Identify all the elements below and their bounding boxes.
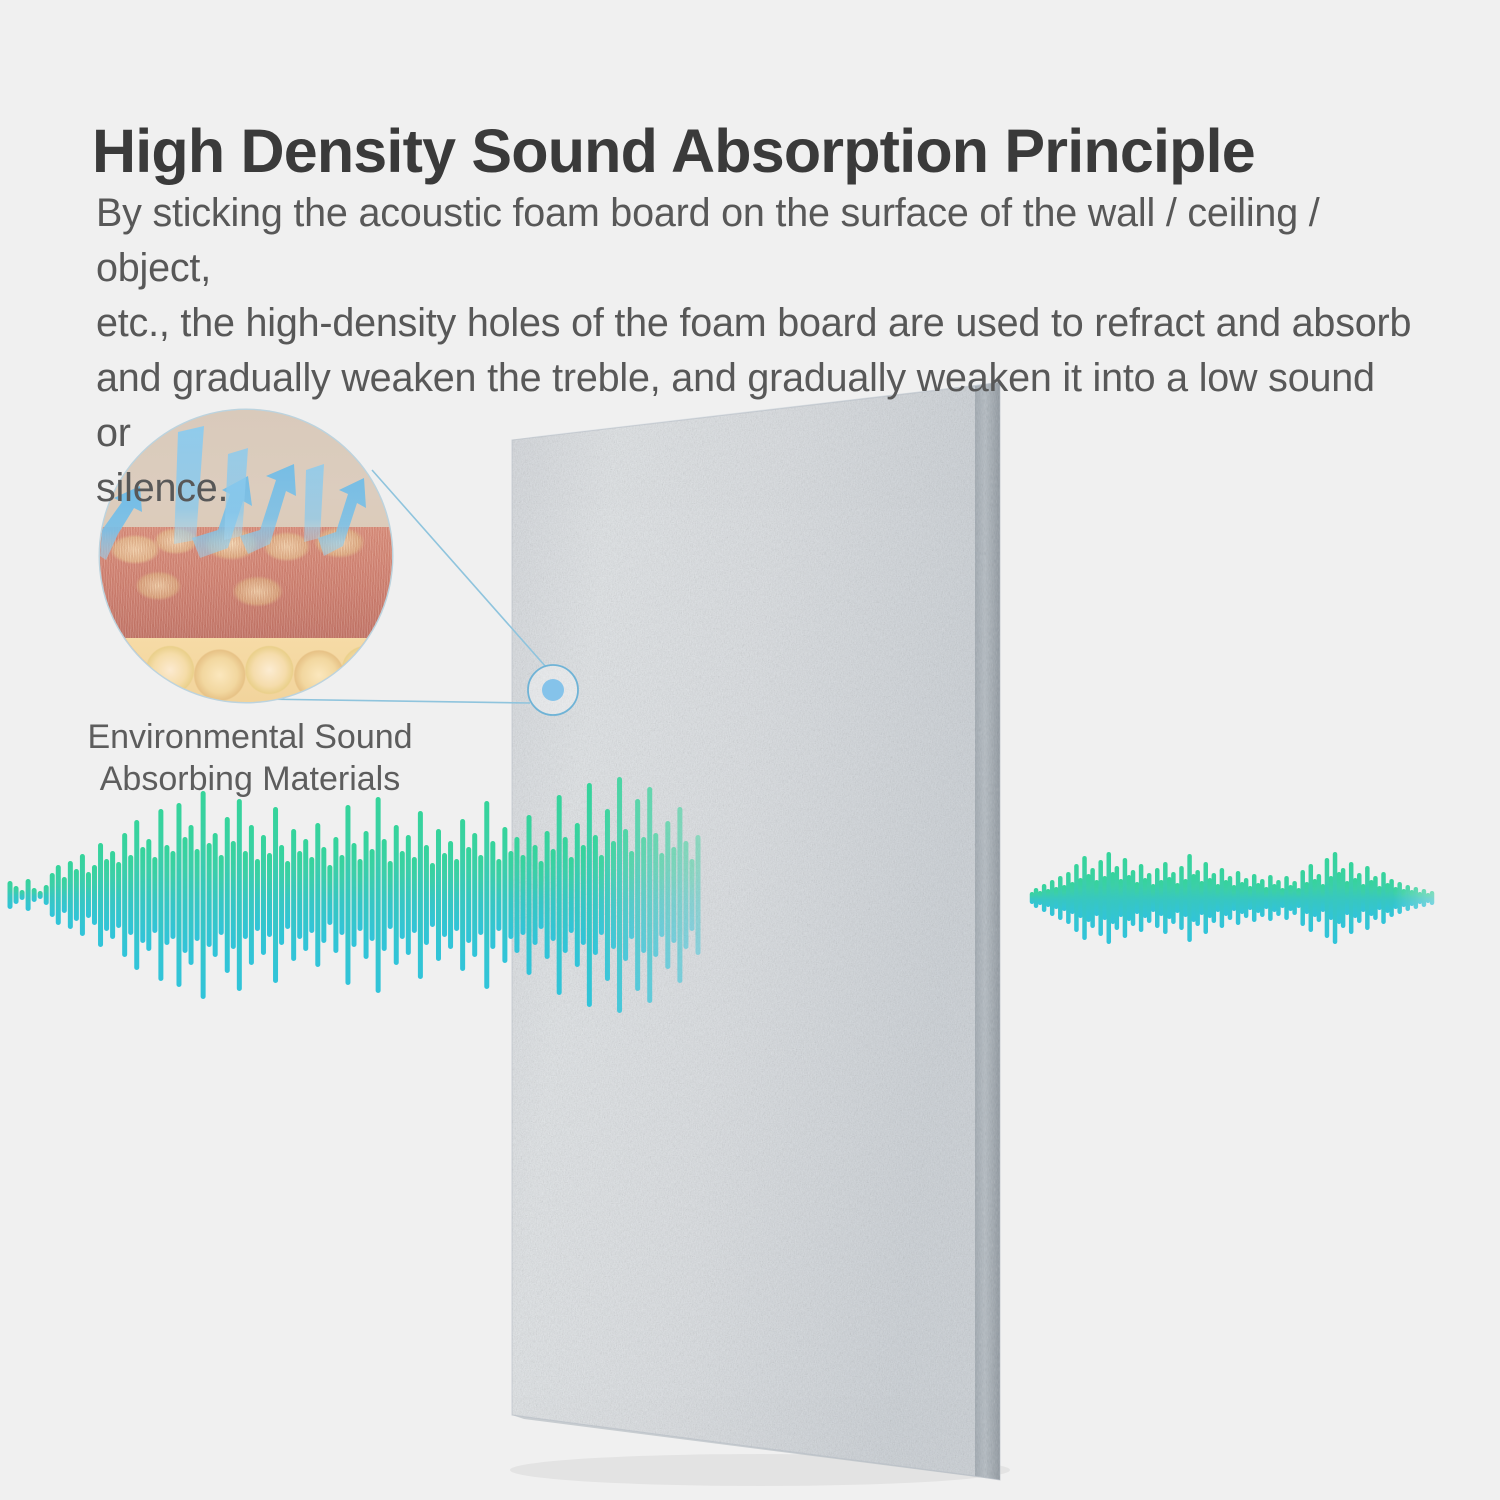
description-line: silence. — [96, 461, 1414, 516]
description-paragraph: By sticking the acoustic foam board on t… — [96, 186, 1414, 516]
panel-side-texture — [970, 375, 1010, 1490]
description-line: By sticking the acoustic foam board on t… — [96, 186, 1414, 296]
infographic-canvas: Environmental Sound Absorbing Materials … — [0, 0, 1500, 1500]
panel-shadow — [510, 1454, 1010, 1486]
panel-side-edge — [975, 382, 1000, 1480]
inset-caption-line-1: Environmental Sound — [60, 716, 440, 758]
panel-face — [512, 386, 975, 1476]
panel-face-texture — [500, 370, 1000, 1490]
inset-caption: Environmental Sound Absorbing Materials — [60, 716, 440, 800]
page-title: High Density Sound Absorption Principle — [92, 115, 1422, 187]
inset-caption-line-2: Absorbing Materials — [60, 758, 440, 800]
description-line: and gradually weaken the treble, and gra… — [96, 351, 1414, 461]
panel-outline — [512, 382, 1000, 1480]
description-line: etc., the high-density holes of the foam… — [96, 296, 1414, 351]
panel-bottom-edge — [512, 1415, 1000, 1480]
